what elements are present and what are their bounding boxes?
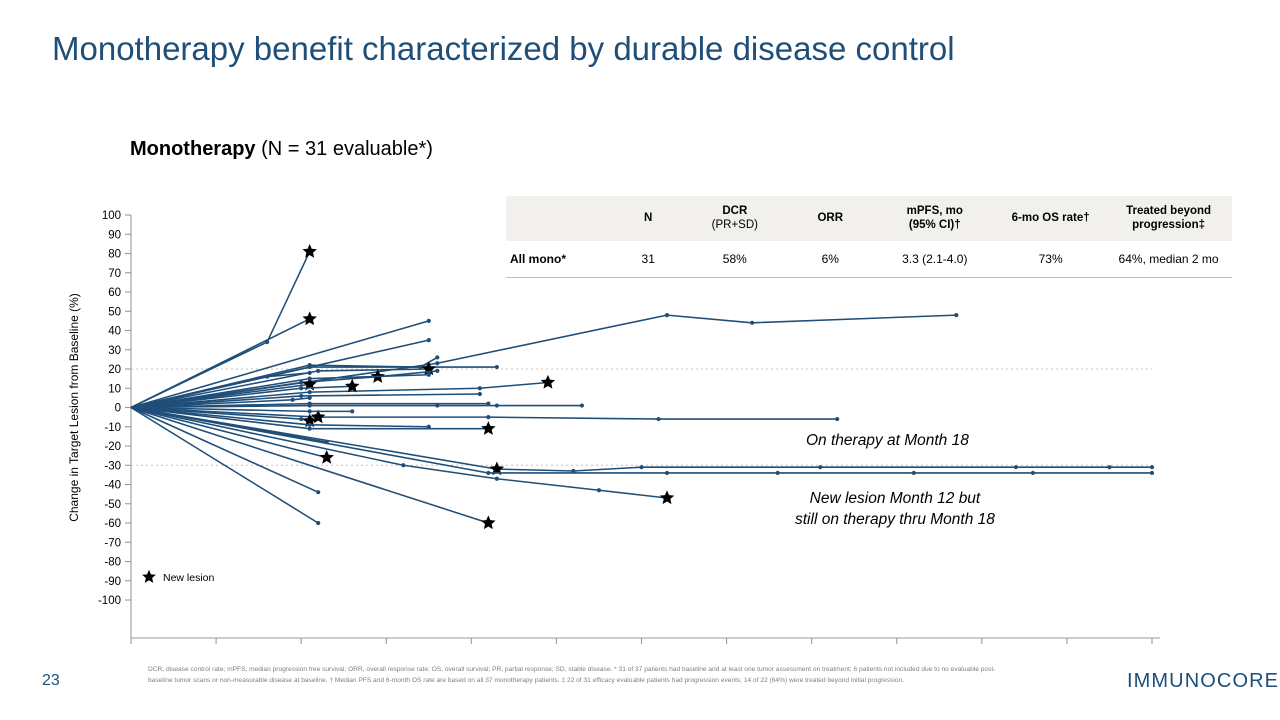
data-point (316, 490, 320, 494)
data-point (818, 465, 822, 469)
data-point (308, 365, 312, 369)
data-point (639, 465, 643, 469)
data-point (665, 313, 669, 317)
subtitle-rest: (N = 31 evaluable*) (256, 138, 433, 160)
data-point (435, 369, 439, 373)
y-tick-label: 60 (108, 287, 121, 299)
data-point (1014, 465, 1018, 469)
chart-subtitle: Monotherapy (N = 31 evaluable*) (130, 138, 433, 161)
y-tick-label: 30 (108, 345, 121, 357)
data-point (495, 365, 499, 369)
data-point (299, 386, 303, 390)
data-point (835, 417, 839, 421)
data-point (308, 409, 312, 413)
data-point (580, 403, 584, 407)
data-point (299, 394, 303, 398)
data-point (435, 403, 439, 407)
data-point (308, 396, 312, 400)
data-point (316, 521, 320, 525)
new-lesion-star-marker (660, 490, 674, 504)
data-point (597, 488, 601, 492)
y-tick-label: -40 (104, 480, 121, 492)
spider-plot-svg: 1009080706050403020100-10-20-30-40-50-60… (60, 205, 1210, 645)
spider-plot: 1009080706050403020100-10-20-30-40-50-60… (60, 205, 1210, 645)
data-point (308, 390, 312, 394)
y-tick-label: -100 (98, 595, 121, 607)
data-point (478, 386, 482, 390)
data-point (486, 415, 490, 419)
data-point (401, 463, 405, 467)
data-point (912, 471, 916, 475)
y-tick-label: -50 (104, 499, 121, 511)
data-point (478, 392, 482, 396)
annotation-on-therapy: On therapy at Month 18 (806, 432, 969, 450)
data-point (427, 319, 431, 323)
data-point (316, 369, 320, 373)
data-point (265, 375, 269, 379)
data-point (776, 471, 780, 475)
data-point (308, 371, 312, 375)
y-tick-label: 10 (108, 383, 121, 395)
data-point (308, 403, 312, 407)
y-tick-label: -80 (104, 557, 121, 569)
subtitle-bold: Monotherapy (130, 138, 256, 160)
y-tick-label: 0 (115, 403, 121, 415)
annotation-new-lesion: New lesion Month 12 but still on therapy… (795, 489, 995, 531)
y-tick-label: 50 (108, 306, 121, 318)
data-point (954, 313, 958, 317)
y-tick-label: -60 (104, 518, 121, 530)
data-point (291, 398, 295, 402)
data-point (308, 377, 312, 381)
patient-trajectory (131, 408, 318, 493)
brand-logo: IMMUNOCORE (1127, 670, 1279, 693)
new-lesion-star-marker (302, 311, 316, 325)
y-tick-label: 40 (108, 326, 121, 338)
new-lesion-star-marker (481, 421, 495, 435)
data-point (1107, 465, 1111, 469)
data-point (350, 409, 354, 413)
data-point (1150, 471, 1154, 475)
data-point (750, 321, 754, 325)
data-point (308, 423, 312, 427)
y-tick-label: -10 (104, 422, 121, 434)
y-tick-label: -70 (104, 537, 121, 549)
page-title: Monotherapy benefit characterized by dur… (52, 30, 955, 68)
legend-star-icon (142, 570, 156, 583)
new-lesion-star-marker (541, 375, 555, 389)
y-tick-label: 70 (108, 268, 121, 280)
footnote: DCR, disease control rate; mPFS, median … (148, 665, 998, 686)
y-tick-label: 100 (102, 210, 121, 222)
data-point (486, 471, 490, 475)
data-point (656, 417, 660, 421)
data-point (308, 427, 312, 431)
data-point (1150, 465, 1154, 469)
y-axis-label: Change in Target Lesion from Baseline (%… (67, 293, 81, 522)
patient-trajectory (131, 408, 327, 458)
legend-label: New lesion (163, 572, 215, 584)
new-lesion-star-marker (481, 515, 495, 529)
y-tick-label: 20 (108, 364, 121, 376)
y-tick-label: -90 (104, 576, 121, 588)
data-point (427, 373, 431, 377)
new-lesion-star-marker (319, 450, 333, 464)
data-point (435, 355, 439, 359)
y-tick-label: 90 (108, 229, 121, 241)
annotation-new-lesion-line1: New lesion Month 12 but (795, 489, 995, 510)
data-point (665, 471, 669, 475)
data-point (1031, 471, 1035, 475)
y-tick-label: -30 (104, 460, 121, 472)
y-tick-label: 80 (108, 249, 121, 261)
data-point (299, 417, 303, 421)
new-lesion-star-marker (302, 244, 316, 258)
data-point (495, 403, 499, 407)
data-point (495, 477, 499, 481)
patient-trajectory (131, 252, 310, 408)
annotation-new-lesion-line2: still on therapy thru Month 18 (795, 510, 995, 531)
y-tick-label: -20 (104, 441, 121, 453)
data-point (427, 338, 431, 342)
page-number: 23 (42, 672, 60, 690)
data-point (435, 361, 439, 365)
